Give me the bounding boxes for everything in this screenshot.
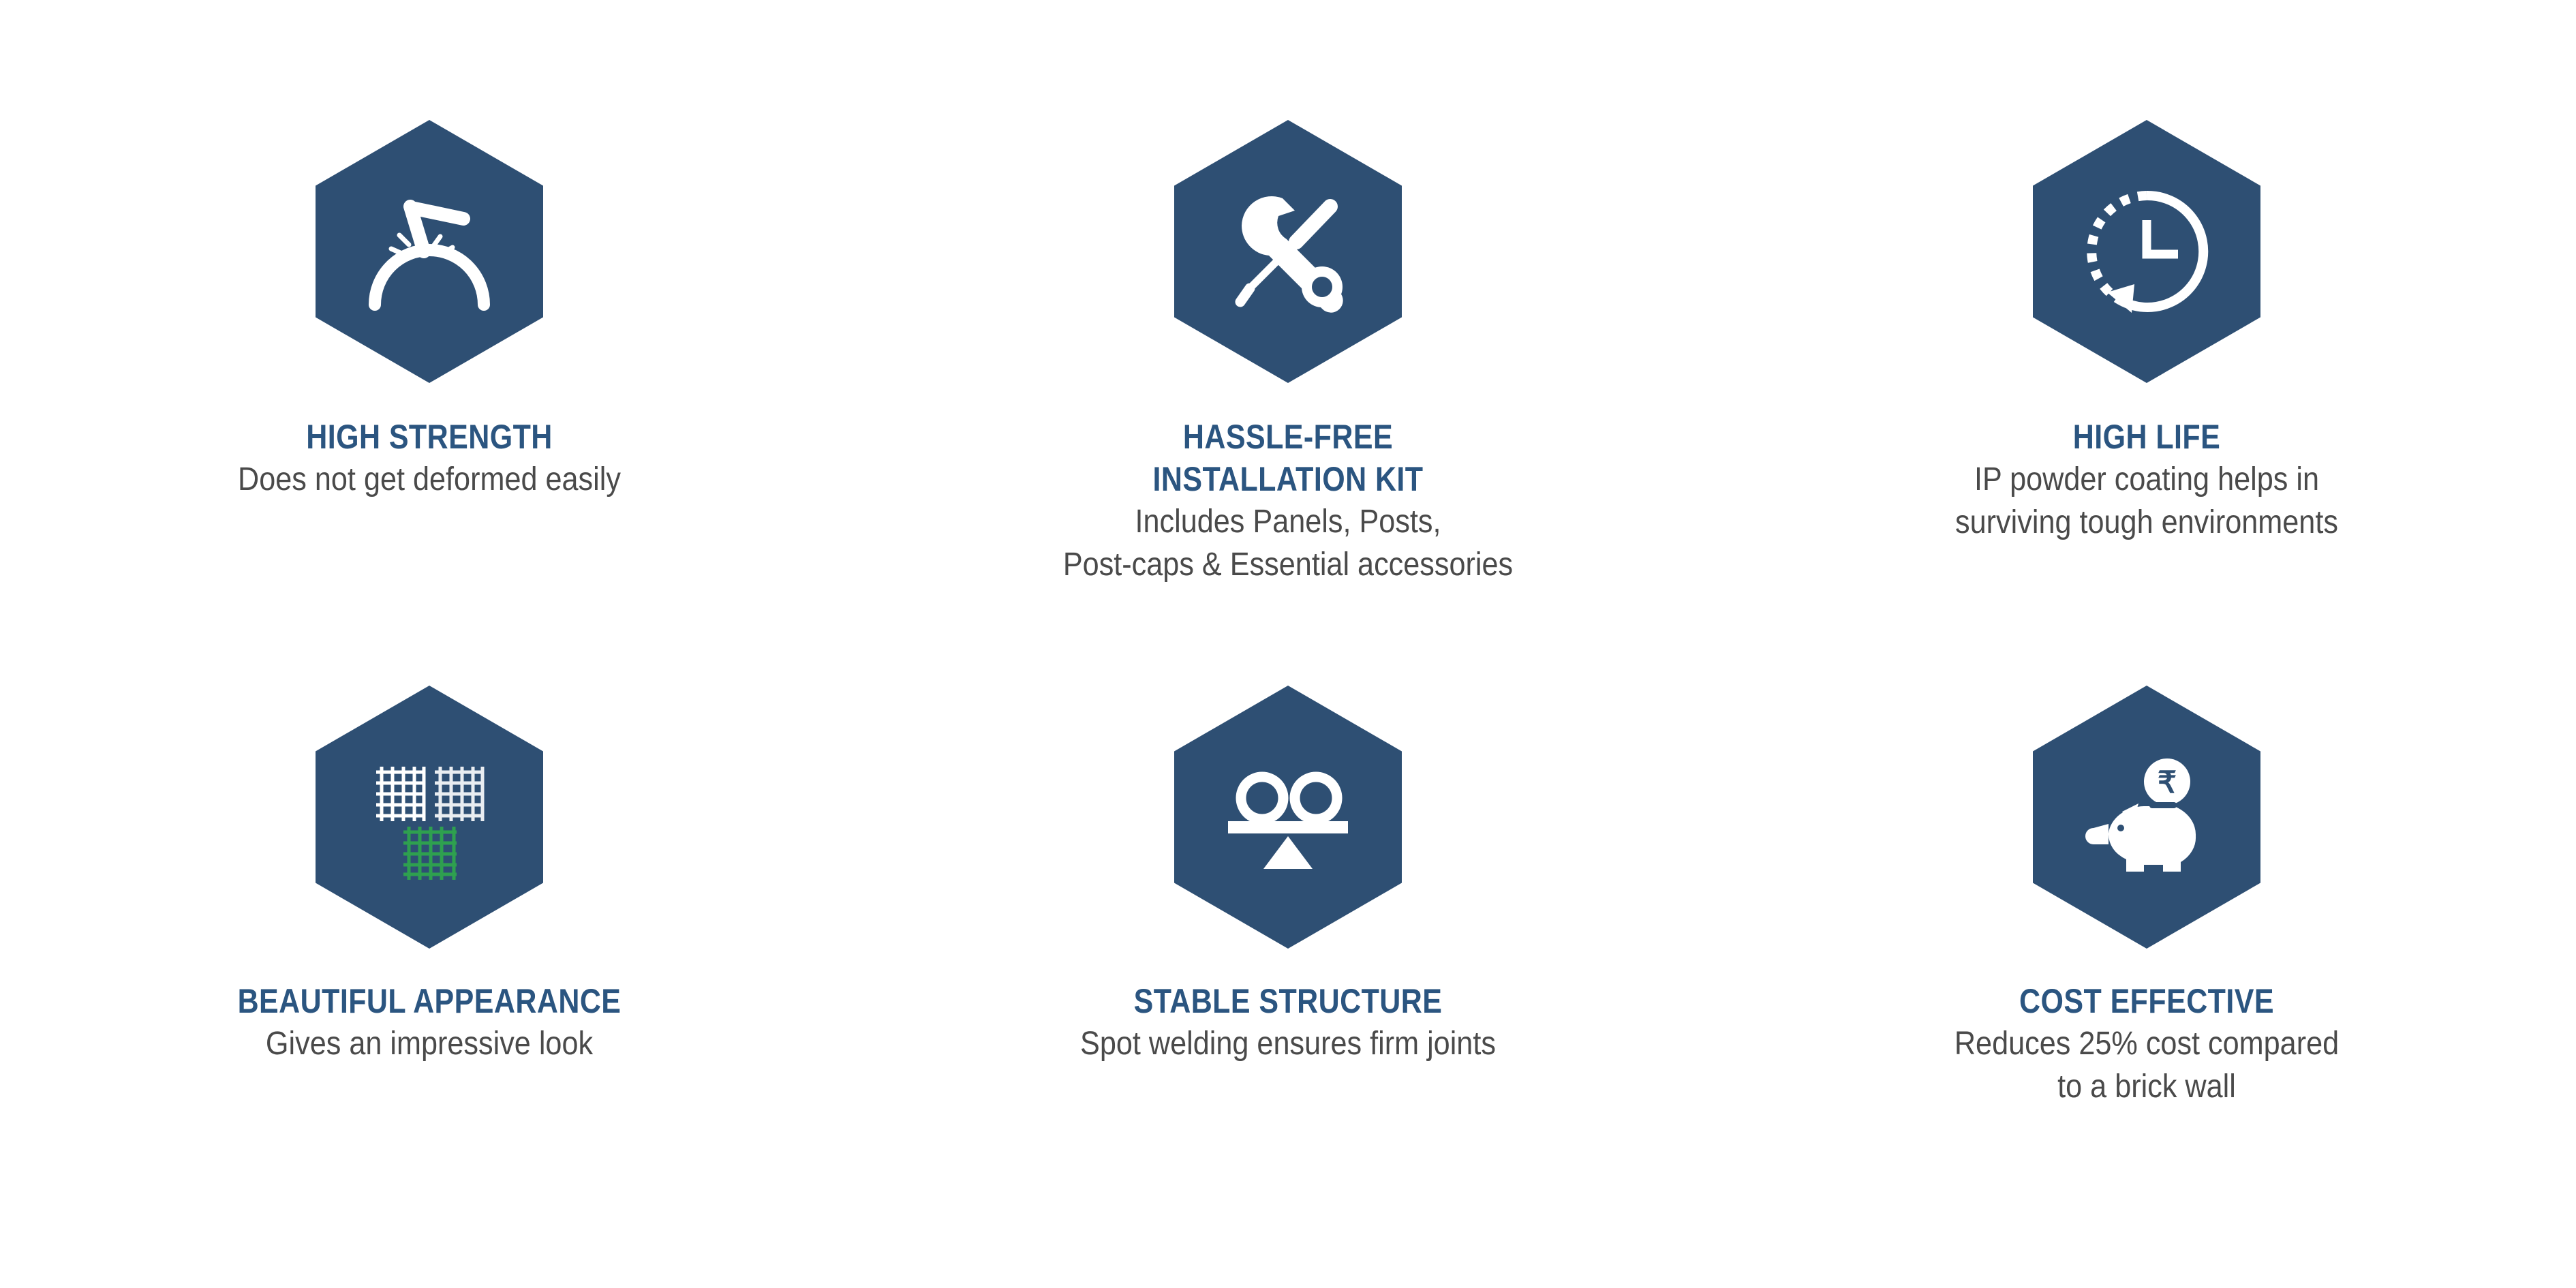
feature-card-hassle-free-installation-kit: HASSLE-FREE INSTALLATION KIT Includes Pa… — [859, 0, 1717, 634]
feature-text: STABLE STRUCTURE Spot welding ensures fi… — [886, 980, 1690, 1065]
feature-description: Reduces 25% cost compared to a brick wal… — [1785, 1022, 2509, 1108]
feature-title: HASSLE-FREE INSTALLATION KIT — [942, 416, 1634, 500]
feature-badge — [1174, 686, 1402, 949]
svg-text:₹: ₹ — [2158, 766, 2177, 799]
wire-mesh-grids-icon — [361, 749, 497, 885]
piggy-bank-rupee-icon: ₹ — [2079, 749, 2215, 885]
clock-arrow-icon — [2079, 183, 2215, 320]
feature-card-high-life: HIGH LIFE IP powder coating helps in sur… — [1717, 0, 2576, 634]
feature-card-high-strength: HIGH STRENGTH Does not get deformed easi… — [0, 0, 859, 634]
feature-grid: HIGH STRENGTH Does not get deformed easi… — [0, 0, 2576, 1288]
feature-description: Includes Panels, Posts, Post-caps & Esse… — [926, 500, 1650, 586]
feature-text: HASSLE-FREE INSTALLATION KIT Includes Pa… — [886, 416, 1690, 586]
feature-title: COST EFFECTIVE — [1801, 980, 2493, 1022]
feature-title: STABLE STRUCTURE — [942, 980, 1634, 1022]
feature-infographic: HIGH STRENGTH Does not get deformed easi… — [0, 0, 2576, 1288]
feature-card-beautiful-appearance: BEAUTIFUL APPEARANCE Gives an impressive… — [0, 634, 859, 1288]
feature-description: IP powder coating helps in surviving tou… — [1785, 458, 2509, 544]
balance-scale-icon — [1220, 749, 1356, 885]
feature-text: BEAUTIFUL APPEARANCE Gives an impressive… — [27, 980, 831, 1065]
feature-title: BEAUTIFUL APPEARANCE — [84, 980, 776, 1022]
feature-description: Gives an impressive look — [67, 1022, 791, 1065]
feature-card-cost-effective: ₹ COST EFFECTIVE Reduces 25% cost compar… — [1717, 634, 2576, 1288]
feature-description: Spot welding ensures firm joints — [926, 1022, 1650, 1065]
feature-text: HIGH STRENGTH Does not get deformed easi… — [27, 416, 831, 501]
feature-title: HIGH LIFE — [1801, 416, 2493, 458]
feature-description: Does not get deformed easily — [67, 458, 791, 501]
feature-badge — [2033, 120, 2260, 383]
feature-badge: ₹ — [2033, 686, 2260, 949]
feature-text: COST EFFECTIVE Reduces 25% cost compared… — [1745, 980, 2549, 1108]
feature-text: HIGH LIFE IP powder coating helps in sur… — [1745, 416, 2549, 544]
feature-badge — [316, 120, 543, 383]
hammer-strike-icon — [361, 183, 497, 320]
feature-title: HIGH STRENGTH — [84, 416, 776, 458]
wrench-screwdriver-icon — [1220, 183, 1356, 320]
feature-badge — [1174, 120, 1402, 383]
feature-card-stable-structure: STABLE STRUCTURE Spot welding ensures fi… — [859, 634, 1717, 1288]
feature-badge — [316, 686, 543, 949]
